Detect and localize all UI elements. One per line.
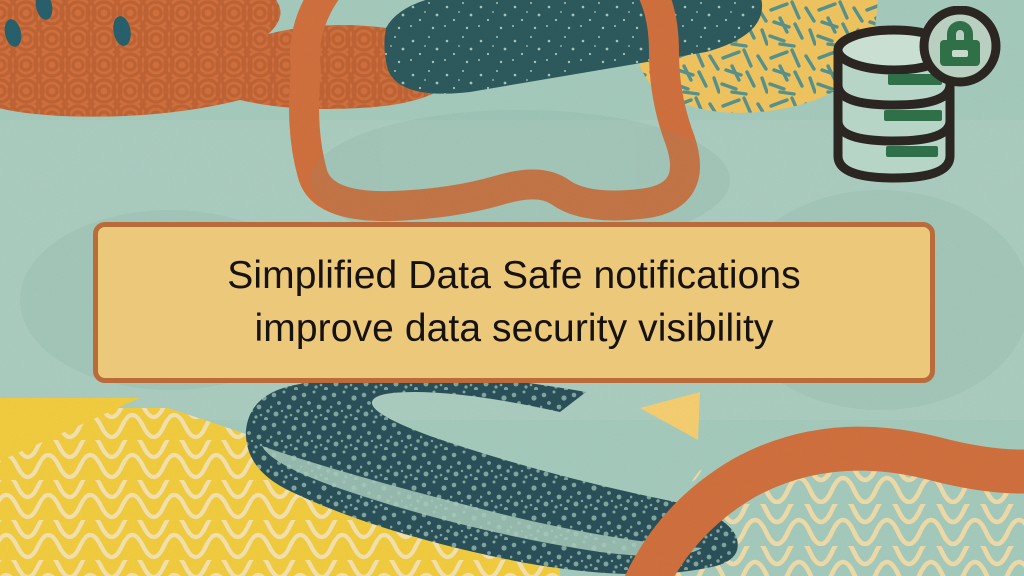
padlock-keyhole	[952, 50, 968, 57]
database-lock-icon	[826, 6, 1004, 188]
headline-banner: Simplified Data Safe notifications impro…	[93, 222, 935, 383]
slide-canvas: Simplified Data Safe notifications impro…	[0, 0, 1024, 576]
headline-line-1: Simplified Data Safe notifications	[227, 253, 801, 299]
lock-badge	[924, 10, 996, 82]
headline-line-2: improve data security visibility	[254, 306, 773, 352]
